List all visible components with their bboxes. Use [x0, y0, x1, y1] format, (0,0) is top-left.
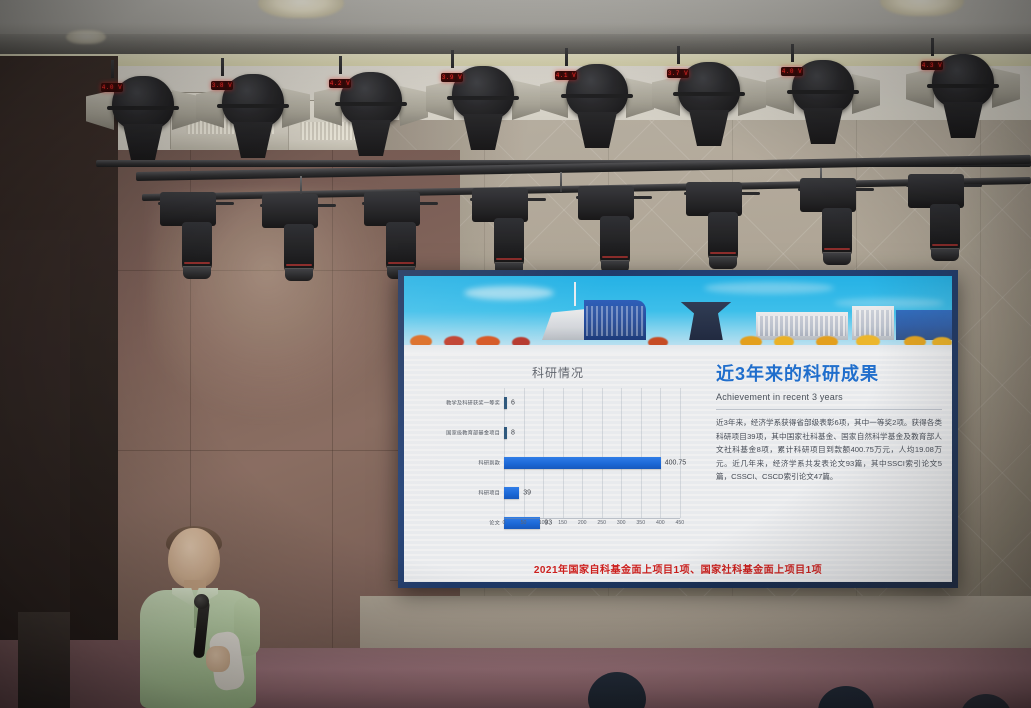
- chart-category-label: 教学及科研获奖一等奖: [446, 400, 500, 407]
- bar-chart: 教学及科研获奖一等奖 6 国家级教育部基金项目 8 科研到款: [408, 388, 706, 538]
- led-screen: 科研情况: [404, 276, 952, 582]
- recessed-light: [66, 30, 106, 44]
- chart-category-label: 国家级教育部基金项目: [446, 430, 500, 437]
- chart-x-axis-line: [504, 518, 680, 519]
- chart-xtick: 250: [597, 520, 606, 526]
- light-yoke: [561, 94, 633, 98]
- chart-bar: [504, 427, 507, 439]
- light-hanger: [111, 60, 114, 78]
- light-yoke: [927, 84, 999, 88]
- spot-body: [364, 192, 420, 226]
- truss-brace: [560, 172, 562, 192]
- chart-xtick: 100: [539, 520, 548, 526]
- light-led-readout: 4.2 V: [329, 79, 351, 88]
- chart-xtick: 50: [521, 520, 527, 526]
- light-yoke: [217, 104, 289, 108]
- chart-category-label: 论文: [489, 520, 500, 527]
- chart-xtick: 450: [675, 520, 684, 526]
- light-hanger: [221, 58, 224, 76]
- light-hanger: [677, 46, 680, 64]
- slide-heading-en: Achievement in recent 3 years: [716, 392, 942, 402]
- spot-body: [262, 194, 318, 228]
- text-panel: 近3年来的科研成果 Achievement in recent 3 years …: [716, 360, 942, 548]
- slide-banner-image: [404, 276, 952, 354]
- light-led-readout: 3.9 V: [441, 73, 463, 82]
- light-hanger: [565, 48, 568, 66]
- chart-bar: [504, 487, 519, 499]
- spot-lens: [709, 256, 737, 269]
- chart-value-label: 6: [511, 400, 515, 407]
- light-hanger: [451, 50, 454, 68]
- light-led-readout: 3.7 V: [667, 69, 689, 78]
- slide-content: 科研情况: [404, 354, 952, 582]
- slide-footer-note: 2021年国家自科基金面上项目1项、国家社科基金面上项目1项: [404, 561, 952, 576]
- spot-body: [800, 178, 856, 212]
- light-led-readout: 4.3 V: [921, 61, 943, 70]
- chart-panel: 科研情况: [408, 358, 708, 564]
- presenter: [138, 528, 258, 708]
- chart-category-label: 科研项目: [478, 490, 500, 497]
- light-led-readout: 4.1 V: [555, 71, 577, 80]
- chart-value-label: 39: [523, 490, 531, 497]
- presenter-head: [168, 528, 220, 588]
- chart-xtick: 300: [617, 520, 626, 526]
- spot-red-stripe: [824, 248, 850, 250]
- led-value: 4.1 V: [555, 71, 577, 80]
- spot-body: [472, 188, 528, 222]
- light-yoke: [447, 96, 519, 100]
- led-screen-bezel: 科研情况: [398, 270, 958, 588]
- chart-row: 教学及科研获奖一等奖 6: [504, 388, 680, 418]
- divider: [716, 409, 942, 410]
- led-value: 4.0 V: [781, 67, 803, 76]
- chart-bar: [504, 397, 507, 409]
- chart-title: 科研情况: [408, 364, 708, 381]
- chart-row: 科研项目 39: [504, 478, 680, 508]
- chart-xtick: 350: [636, 520, 645, 526]
- led-value: 4.3 V: [921, 61, 943, 70]
- spot-body: [686, 182, 742, 216]
- light-yoke: [787, 90, 859, 94]
- lecture-hall-photo: 4.0 V 3.8 V 4.2 V 3.9 V 4.1 V: [0, 0, 1031, 708]
- led-value: 3.7 V: [667, 69, 689, 78]
- spot-body: [578, 186, 634, 220]
- chart-row: 科研到款 400.75: [504, 448, 680, 478]
- spot-lens: [285, 268, 313, 281]
- light-yoke: [107, 106, 179, 110]
- chart-xtick: 150: [558, 520, 567, 526]
- chart-bar: [504, 457, 661, 469]
- chart-xtick: 200: [578, 520, 587, 526]
- led-value: 4.2 V: [329, 79, 351, 88]
- truss-brace: [300, 176, 302, 196]
- slide-body-text: 近3年来，经济学系获得省部级表彰6项，其中一等奖2项。获得各类科研项目39项，其…: [716, 416, 942, 484]
- spot-red-stripe: [184, 262, 210, 264]
- spot-body: [908, 174, 964, 208]
- chart-plot-area: 教学及科研获奖一等奖 6 国家级教育部基金项目 8 科研到款: [504, 388, 680, 518]
- spot-body: [160, 192, 216, 226]
- microphone-head: [194, 594, 209, 609]
- banner-mast: [574, 282, 576, 306]
- chart-value-label: 8: [511, 430, 515, 437]
- chart-x-axis: 0 50 100 150 200 250 300 350 400 450: [504, 520, 680, 532]
- led-value: 4.0 V: [101, 83, 123, 92]
- slide-heading-cn: 近3年来的科研成果: [716, 360, 942, 386]
- spot-red-stripe: [496, 258, 522, 260]
- presenter-hand: [206, 646, 230, 672]
- light-hanger: [791, 44, 794, 62]
- light-hanger: [931, 38, 934, 56]
- led-value: 3.8 V: [211, 81, 233, 90]
- chart-category-label: 科研到款: [478, 460, 500, 467]
- light-led-readout: 4.0 V: [101, 83, 123, 92]
- light-yoke: [335, 102, 407, 106]
- spot-red-stripe: [286, 264, 312, 266]
- light-led-readout: 3.8 V: [211, 81, 233, 90]
- banner-ground: [404, 345, 952, 354]
- led-value: 3.9 V: [441, 73, 463, 82]
- light-yoke: [673, 92, 745, 96]
- spot-red-stripe: [388, 262, 414, 264]
- chart-value-label: 400.75: [665, 460, 686, 467]
- light-hanger: [339, 56, 342, 74]
- spot-lens: [183, 266, 211, 279]
- chart-xtick: 400: [656, 520, 665, 526]
- spot-lens: [823, 252, 851, 265]
- chart-xtick: 0: [503, 520, 506, 526]
- spot-red-stripe: [710, 252, 736, 254]
- spot-red-stripe: [932, 244, 958, 246]
- spot-lens: [931, 248, 959, 261]
- spot-red-stripe: [602, 256, 628, 258]
- light-led-readout: 4.0 V: [781, 67, 803, 76]
- loudspeaker-cabinet: [18, 612, 70, 708]
- chart-row: 国家级教育部基金项目 8: [504, 418, 680, 448]
